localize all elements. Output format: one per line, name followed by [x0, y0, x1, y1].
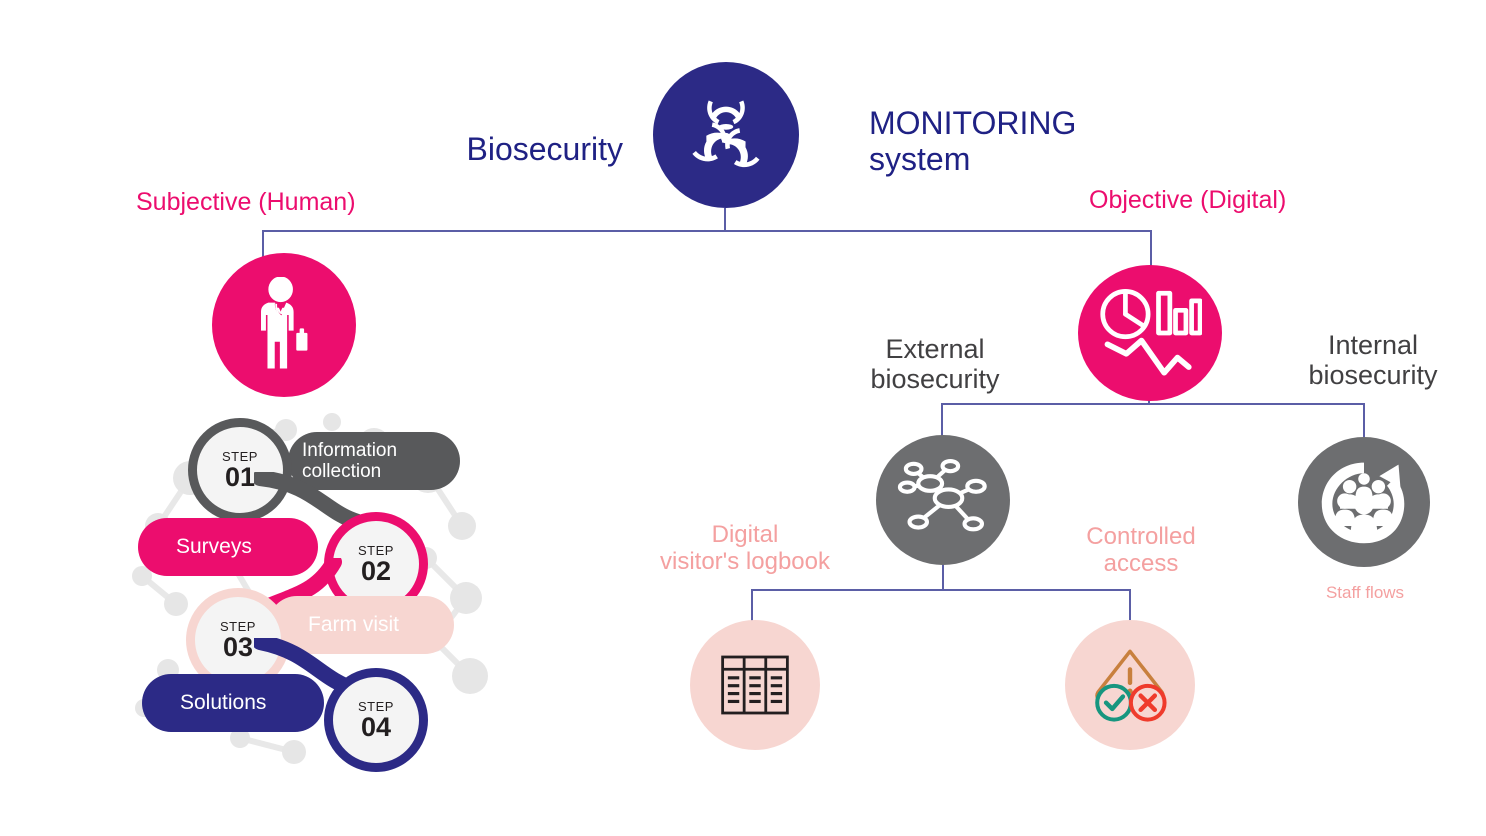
network-circle[interactable]	[876, 435, 1010, 565]
label-objective-digital: Objective (Digital)	[1089, 186, 1286, 214]
four-step-process-graphic: Information collection STEP 01 Surveys S…	[128, 408, 488, 768]
controlled-access-circle[interactable]	[1065, 620, 1195, 750]
connector-root-stem	[724, 208, 726, 232]
step-word-1: STEP	[222, 450, 258, 463]
label-subjective-human: Subjective (Human)	[136, 188, 356, 216]
title-monitoring-system: MONITORING system	[869, 106, 1169, 178]
biohazard-icon	[678, 87, 774, 183]
step-number-4: 04	[361, 714, 391, 741]
step-word-2: STEP	[358, 544, 394, 557]
label-digital-visitors-logbook: Digital visitor's logbook	[645, 522, 845, 576]
logbook-table-icon	[720, 654, 790, 716]
connector-level2-right-drop	[1363, 403, 1365, 437]
veterinarian-circle[interactable]	[212, 253, 356, 397]
step-ring-4[interactable]: STEP 04	[324, 668, 428, 772]
veterinarian-icon	[242, 277, 326, 373]
label-internal-biosecurity: Internal biosecurity	[1283, 330, 1463, 390]
staff-flows-circle[interactable]	[1298, 437, 1430, 567]
step-label-4: Solutions	[180, 691, 266, 715]
biosecurity-monitoring-diagram: Biosecurity MONITORING system Subjective…	[0, 0, 1486, 836]
step-number-3: 03	[223, 634, 253, 661]
connector-level3-stem	[942, 562, 944, 590]
step-word-4: STEP	[358, 700, 394, 713]
connector-level1-horizontal	[262, 230, 1152, 232]
step-word-3: STEP	[220, 620, 256, 633]
title-biosecurity: Biosecurity	[403, 132, 623, 168]
analytics-chart-icon	[1098, 287, 1202, 379]
logbook-circle[interactable]	[690, 620, 820, 750]
connector-level2-horizontal	[941, 403, 1365, 405]
analytics-circle[interactable]	[1078, 265, 1222, 401]
connector-level2-left-drop	[941, 403, 943, 439]
step-label-3: Farm visit	[308, 613, 399, 637]
connector-level3-left-drop	[751, 589, 753, 624]
label-controlled-access: Controlled access	[1056, 524, 1226, 578]
connector-level1-right-drop	[1150, 230, 1152, 268]
label-staff-flows: Staff flows	[1294, 583, 1436, 602]
staff-flow-icon	[1316, 455, 1412, 549]
biohazard-circle[interactable]	[653, 62, 799, 208]
step-number-1: 01	[225, 464, 255, 491]
controlled-access-icon	[1087, 646, 1173, 724]
network-nodes-icon	[897, 456, 989, 544]
step-label-2: Surveys	[176, 535, 252, 559]
connector-level3-right-drop	[1129, 589, 1131, 622]
step-pill-4[interactable]: Solutions	[142, 674, 324, 732]
label-external-biosecurity: External biosecurity	[850, 334, 1020, 394]
connector-level3-horizontal	[751, 589, 1131, 591]
